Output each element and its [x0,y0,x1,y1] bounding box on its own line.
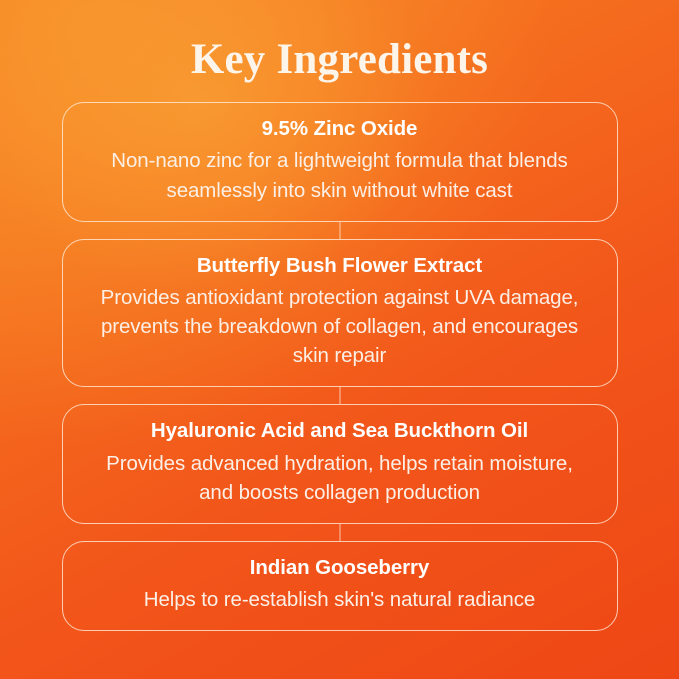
ingredient-card-description: Provides advanced hydration, helps retai… [87,449,593,507]
ingredient-card-wrap-4: Indian Gooseberry Helps to re-establish … [0,541,679,631]
ingredient-card-description: Helps to re-establish skin's natural rad… [87,585,593,614]
key-ingredients-poster: Key Ingredients 9.5% Zinc Oxide Non-nano… [0,0,679,679]
ingredient-card-title: Indian Gooseberry [87,554,593,582]
page-title: Key Ingredients [0,0,679,84]
ingredient-card-wrap-3: Hyaluronic Acid and Sea Buckthorn Oil Pr… [0,404,679,524]
ingredient-card-description: Non-nano zinc for a lightweight formula … [87,146,593,204]
card-connector-line [339,387,340,404]
ingredient-card-hyaluronic-acid-sea-buckthorn-oil[interactable]: Hyaluronic Acid and Sea Buckthorn Oil Pr… [62,404,618,524]
ingredient-card-wrap-2: Butterfly Bush Flower Extract Provides a… [0,239,679,388]
ingredient-card-wrap-1: 9.5% Zinc Oxide Non-nano zinc for a ligh… [0,102,679,222]
ingredient-card-description: Provides antioxidant protection against … [87,283,593,370]
card-connector-line [339,222,340,239]
ingredient-card-zinc-oxide[interactable]: 9.5% Zinc Oxide Non-nano zinc for a ligh… [62,102,618,222]
ingredient-card-butterfly-bush-flower-extract[interactable]: Butterfly Bush Flower Extract Provides a… [62,239,618,388]
ingredient-card-indian-gooseberry[interactable]: Indian Gooseberry Helps to re-establish … [62,541,618,631]
ingredient-card-title: 9.5% Zinc Oxide [87,115,593,143]
card-connector-line [339,524,340,541]
ingredient-card-list: 9.5% Zinc Oxide Non-nano zinc for a ligh… [0,102,679,631]
ingredient-card-title: Hyaluronic Acid and Sea Buckthorn Oil [87,417,593,445]
ingredient-card-title: Butterfly Bush Flower Extract [87,252,593,280]
